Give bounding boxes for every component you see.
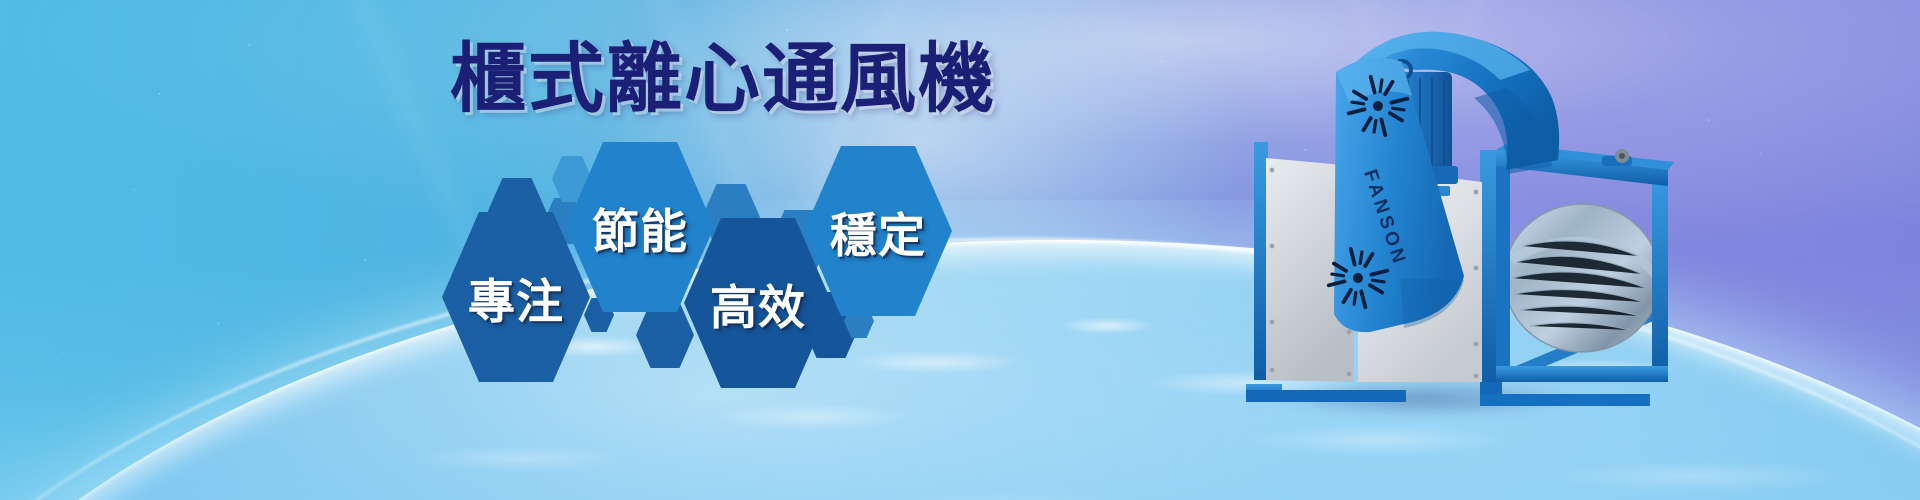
feature-label: 高效 (710, 269, 806, 338)
top-fitting (1602, 149, 1632, 166)
centrifugal-impeller (1504, 204, 1660, 352)
page-title: 櫃式離心通風機 (450, 42, 996, 118)
product-image-cabinet-centrifugal-fan: FANSON (1150, 10, 1710, 430)
product-hero-banner: 櫃式離心通風機 節能 穩定 專注 高效 (0, 0, 1920, 500)
frame-edge-bottom (1496, 366, 1668, 382)
feature-hexagon-cluster: 節能 穩定 專注 高效 (440, 150, 960, 380)
frame-upright-mid (1480, 150, 1496, 384)
base-feet (1246, 382, 1650, 406)
feature-label: 穩定 (830, 197, 926, 266)
frame-upright-left (1254, 142, 1268, 380)
feature-label: 專注 (468, 263, 564, 332)
frame-edge-front-right (1652, 170, 1668, 382)
frame-edge-front-left (1496, 160, 1510, 382)
feature-label: 節能 (592, 193, 688, 262)
